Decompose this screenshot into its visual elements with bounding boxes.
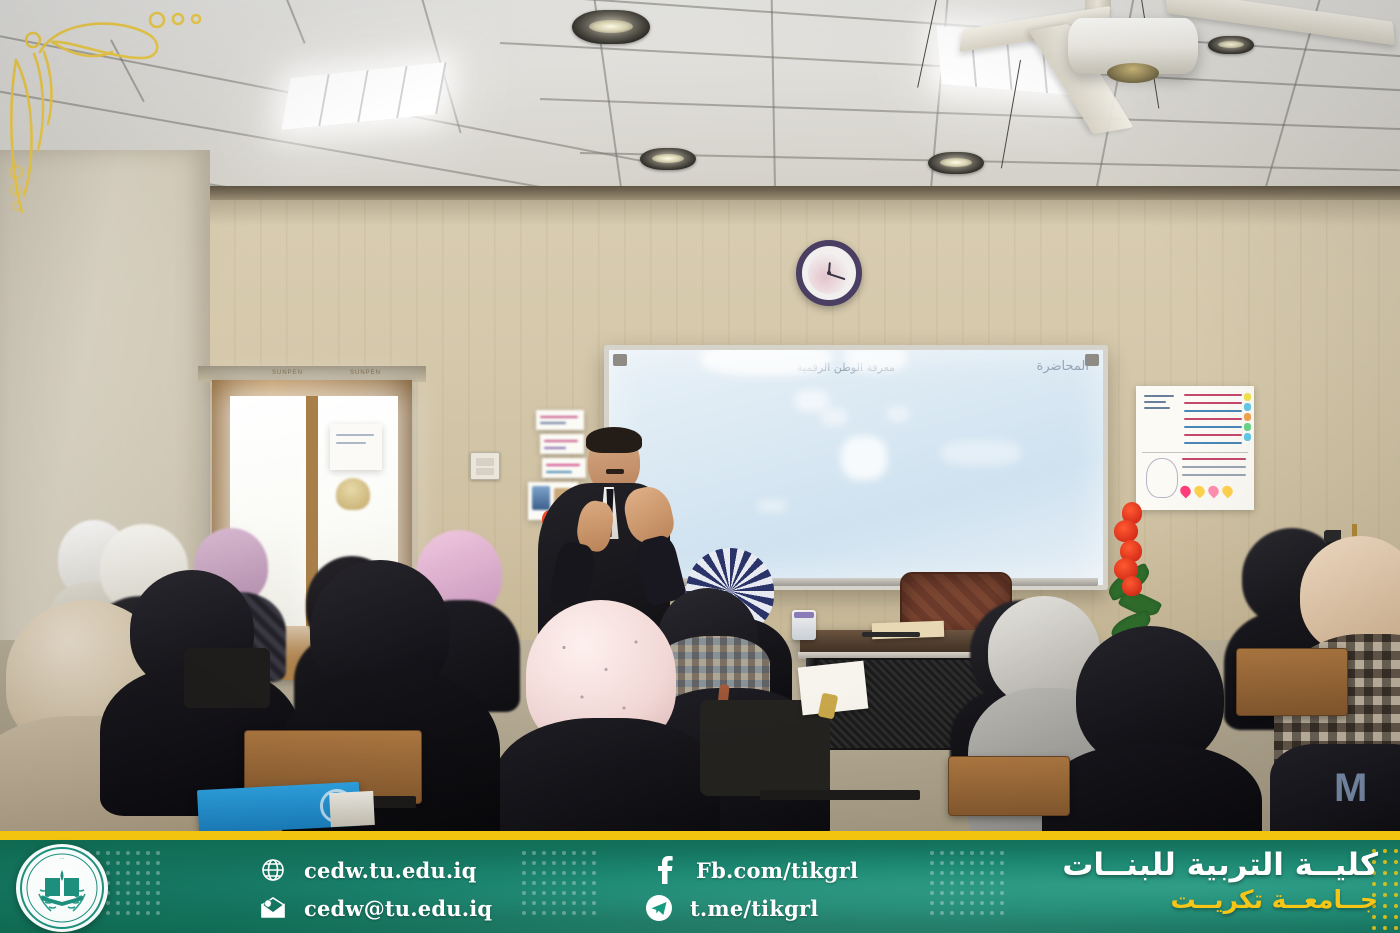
college-name-line1: كليــة التربية للبنــات: [1062, 849, 1378, 882]
facebook-label: Fb.com/tikgrl: [696, 858, 858, 883]
facebook-icon: [650, 855, 680, 885]
dot-pattern-middle: [522, 851, 596, 915]
wall-clock: [796, 240, 862, 306]
globe-icon: [258, 855, 288, 885]
email-label: cedw@tu.edu.iq: [304, 896, 492, 921]
telegram-label: t.me/tikgrl: [690, 896, 818, 921]
college-logo: ···: [16, 844, 108, 932]
wooden-chair-mid: [948, 756, 1070, 816]
dot-pattern-center-right: [930, 851, 1004, 915]
attendee-bottom-right-dark: M: [1270, 744, 1400, 831]
chair-legs: [760, 790, 920, 800]
door-sign-left: SUNPEN: [272, 370, 303, 376]
screenshot-root: SUNPEN SUNPEN: [0, 0, 1400, 933]
svg-text:···: ···: [60, 856, 65, 862]
ceiling-downlight-4: [1208, 36, 1254, 54]
envelope-icon: @: [258, 893, 288, 923]
website-label: cedw.tu.edu.iq: [304, 858, 476, 883]
ceiling-downlight-3: [928, 152, 984, 174]
contact-website[interactable]: cedw.tu.edu.iq: [258, 855, 476, 885]
door-sign-right: SUNPEN: [350, 370, 381, 376]
whiteboard-heading-right: المحاضرة: [1037, 359, 1089, 374]
telegram-icon: [644, 893, 674, 923]
college-name-block: كليــة التربية للبنــات جــامعــة تكريــ…: [1062, 849, 1378, 913]
attendee-right-black-2: [1058, 626, 1242, 831]
contact-telegram[interactable]: t.me/tikgrl: [644, 893, 818, 923]
chair-arm-left: [184, 648, 270, 708]
classroom-photo: SUNPEN SUNPEN: [0, 0, 1400, 831]
college-name-line2: جــامعــة تكريــت: [1062, 886, 1378, 914]
contact-facebook[interactable]: Fb.com/tikgrl: [650, 855, 858, 885]
attendee-pink-pearl-hijab: [510, 600, 700, 831]
contact-email[interactable]: @ cedw@tu.edu.iq: [258, 893, 492, 923]
footer-banner: ··· cedw.tu.edu.iq @: [0, 831, 1400, 933]
college-seal-icon: ···: [19, 846, 105, 930]
banner-top-accent: [0, 831, 1400, 840]
ceiling-downlight-1: [572, 10, 650, 44]
svg-text:@: @: [266, 901, 271, 907]
ceiling-downlight-2: [640, 148, 696, 170]
wooden-chair-right: [1236, 648, 1348, 716]
door-notice: [330, 424, 382, 470]
light-switch[interactable]: [470, 452, 500, 480]
schedule-poster: [1136, 386, 1254, 510]
wall-shadow: [0, 186, 1400, 226]
